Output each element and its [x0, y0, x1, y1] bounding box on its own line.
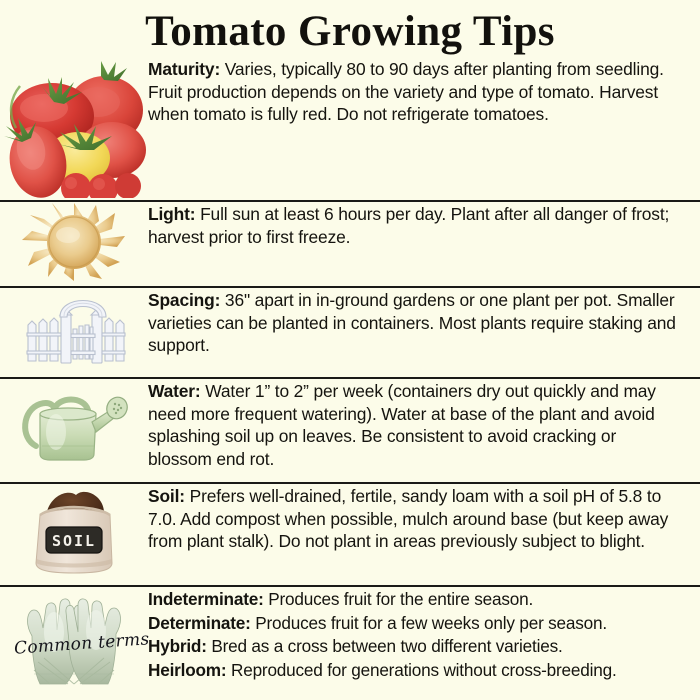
section-common-terms: Common terms Indeterminate: Produces fru… [0, 588, 700, 700]
section-label-light: Light [148, 204, 190, 224]
section-text-cell: Indeterminate: Produces fruit for the en… [148, 588, 700, 682]
section-text-cell: Water: Water 1” to 2” per week (containe… [148, 380, 700, 470]
section-copy-spacing: 36" apart in in-ground gardens or one pl… [148, 290, 676, 355]
term-label-hybrid: Hybrid: [148, 636, 207, 656]
section-icon-cell: Common terms [0, 588, 148, 694]
section-text-cell: Light: Full sun at least 6 hours per day… [148, 203, 700, 248]
section-copy-maturity: Varies, typically 80 to 90 days after pl… [148, 59, 664, 124]
section-icon-cell: SOIL [0, 485, 148, 577]
section-icon-cell [0, 380, 148, 464]
section-label-soil: Soil [148, 486, 179, 506]
section-copy-soil: Prefers well-drained, fertile, sandy loa… [148, 486, 668, 551]
soil-bag-label: SOIL [52, 532, 96, 550]
tomatoes-illustration [0, 58, 148, 198]
section-soil: SOIL Soil: Prefers well-drained, fertile… [0, 485, 700, 586]
term-label-heirloom: Heirloom: [148, 660, 226, 680]
term-definition-hybrid: Bred as a cross between two different va… [207, 636, 563, 656]
section-icon-cell [0, 289, 148, 371]
section-copy-light: Full sun at least 6 hours per day. Plant… [148, 204, 669, 247]
section-divider [0, 482, 700, 484]
term-definition-determinate: Produces fruit for a few weeks only per … [251, 613, 607, 633]
term-definition-indeterminate: Produces fruit for the entire season. [264, 589, 533, 609]
section-spacing: Spacing: 36" apart in in-ground gardens … [0, 289, 700, 378]
section-text-cell: Spacing: 36" apart in in-ground gardens … [148, 289, 700, 357]
section-body-soil: Soil: Prefers well-drained, fertile, san… [148, 485, 684, 553]
term-determinate: Determinate: Produces fruit for a few we… [148, 612, 684, 636]
section-divider [0, 286, 700, 288]
term-heirloom: Heirloom: Reproduced for generations wit… [148, 659, 684, 683]
term-indeterminate: Indeterminate: Produces fruit for the en… [148, 588, 684, 612]
section-divider [0, 377, 700, 379]
section-divider [0, 585, 700, 587]
watering-can-icon [18, 380, 130, 464]
section-label-maturity: Maturity [148, 59, 214, 79]
section-icon-cell [0, 203, 148, 281]
sun-icon [22, 203, 126, 281]
section-label-water: Water [148, 381, 195, 401]
section-body-light: Light: Full sun at least 6 hours per day… [148, 203, 684, 248]
soil-bag-icon: SOIL [24, 485, 124, 577]
page-title: Tomato Growing Tips [0, 6, 700, 58]
term-hybrid: Hybrid: Bred as a cross between two diff… [148, 635, 684, 659]
term-label-indeterminate: Indeterminate: [148, 589, 264, 609]
section-divider [0, 200, 700, 202]
section-body-water: Water: Water 1” to 2” per week (containe… [148, 380, 684, 470]
garden-gate-fence-icon [20, 289, 128, 371]
term-definition-heirloom: Reproduced for generations without cross… [226, 660, 616, 680]
section-icon-cell [0, 58, 148, 198]
section-light: Light: Full sun at least 6 hours per day… [0, 203, 700, 287]
section-label-spacing: Spacing [148, 290, 215, 310]
infographic-page: Tomato Growing Tips [0, 0, 700, 700]
section-body-spacing: Spacing: 36" apart in in-ground gardens … [148, 289, 684, 357]
section-maturity: Maturity: Varies, typically 80 to 90 day… [0, 58, 700, 200]
term-label-determinate: Determinate: [148, 613, 251, 633]
section-text-cell: Soil: Prefers well-drained, fertile, san… [148, 485, 700, 553]
section-text-cell: Maturity: Varies, typically 80 to 90 day… [148, 58, 700, 126]
section-water: Water: Water 1” to 2” per week (containe… [0, 380, 700, 483]
section-copy-water: Water 1” to 2” per week (containers dry … [148, 381, 656, 469]
section-body-maturity: Maturity: Varies, typically 80 to 90 day… [148, 58, 684, 126]
